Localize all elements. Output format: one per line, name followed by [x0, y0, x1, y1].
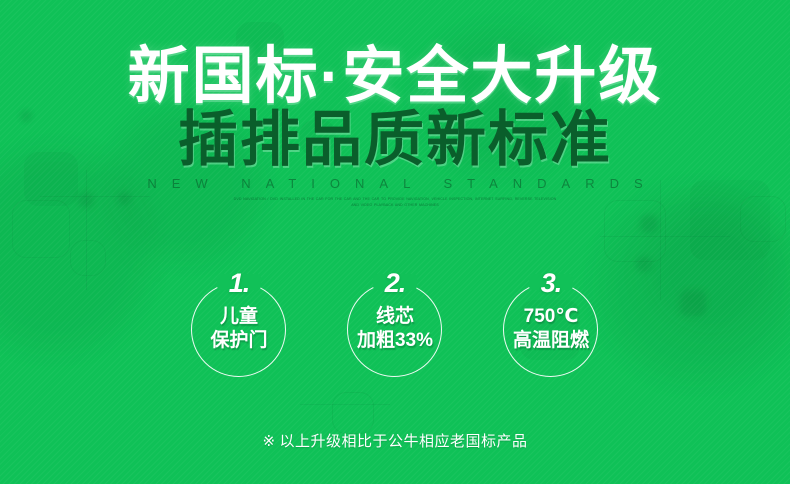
feature-label-line1: 线芯 — [376, 306, 414, 327]
legal-disclaimer-text: DVD NAVIGATION / DVD INSTALLED IN THE CA… — [230, 196, 560, 208]
footnote-text: 以上升级相比于公牛相应老国标产品 — [280, 433, 528, 450]
feature-item: 2. 线芯 加粗33% — [345, 272, 445, 372]
feature-label: 儿童 保护门 — [210, 305, 267, 353]
feature-label: 线芯 加粗33% — [357, 305, 433, 353]
background-square-outline — [70, 240, 106, 276]
background-wire — [300, 404, 390, 405]
background-square-outline — [604, 200, 666, 262]
headline-primary: 新国标·安全大升级 — [0, 44, 790, 110]
headline-secondary: 插排品质新标准 — [0, 108, 790, 172]
background-wire — [600, 236, 730, 237]
feature-number: 1. — [189, 268, 289, 299]
background-square-outline — [12, 200, 70, 258]
feature-list: 1. 儿童 保护门 2. 线芯 加粗33% 3. 750℃ 高温阻燃 — [0, 272, 790, 372]
feature-label: 750℃ 高温阻燃 — [513, 305, 589, 353]
headline-eyebrow-english: NEW NATIONAL STANDARDS — [0, 176, 790, 192]
feature-label-line2: 高温阻燃 — [513, 329, 589, 353]
feature-label-line2: 加粗33% — [357, 329, 433, 353]
background-node — [640, 215, 658, 233]
promo-banner: 新国标·安全大升级 插排品质新标准 NEW NATIONAL STANDARDS… — [0, 0, 790, 484]
feature-item: 1. 儿童 保护门 — [189, 272, 289, 372]
headline-block: 新国标·安全大升级 插排品质新标准 NEW NATIONAL STANDARDS… — [0, 44, 790, 208]
feature-number: 2. — [345, 268, 445, 299]
feature-label-line1: 儿童 — [220, 306, 258, 327]
reference-mark-icon: ※ — [262, 433, 275, 450]
footnote: ※以上升级相比于公牛相应老国标产品 — [0, 432, 790, 452]
feature-label-line2: 保护门 — [210, 329, 267, 353]
feature-number: 3. — [501, 268, 601, 299]
background-square-outline — [332, 392, 374, 434]
feature-item: 3. 750℃ 高温阻燃 — [501, 272, 601, 372]
feature-label-line1: 750℃ — [524, 306, 579, 327]
background-node — [636, 256, 652, 272]
